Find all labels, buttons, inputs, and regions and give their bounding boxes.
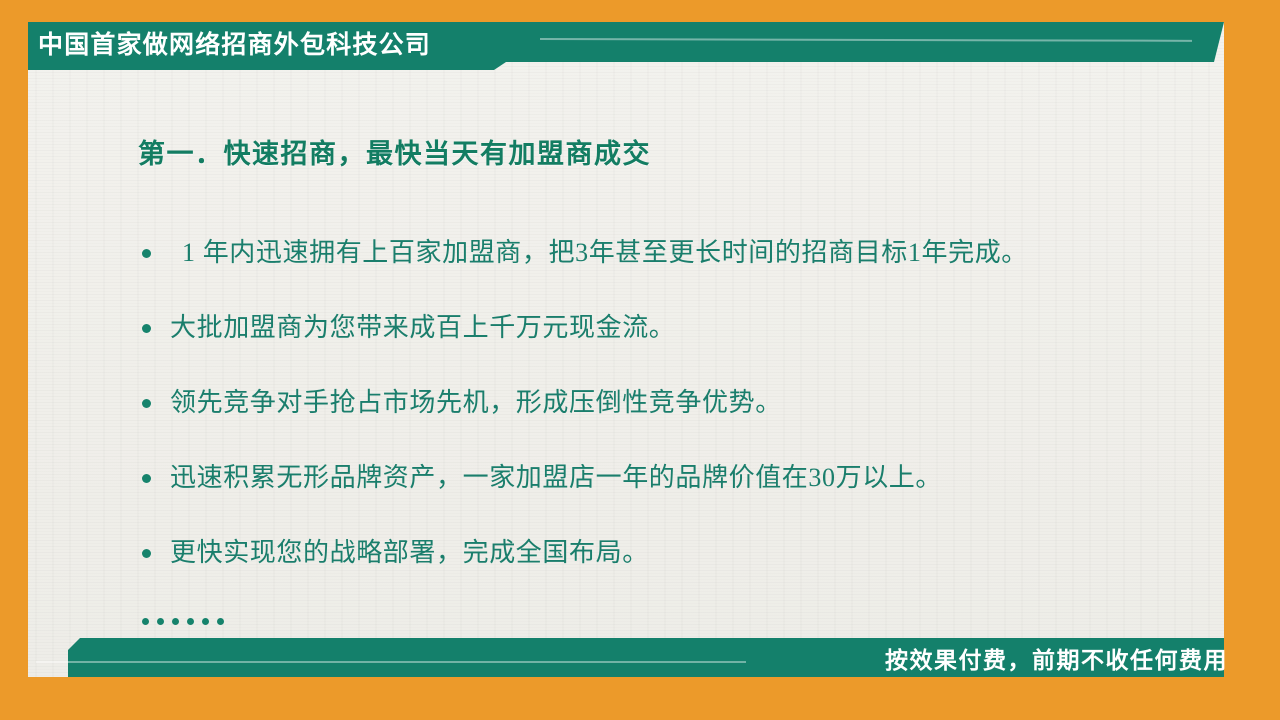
ellipsis-dot-icon [142,618,149,625]
list-item: 迅速积累无形品牌资产，一家加盟店一年的品牌价值在30万以上。 [142,461,1202,536]
bullet-dot-icon [142,324,151,333]
continuation-ellipsis [142,618,224,625]
bullet-dot-icon [142,474,151,483]
ellipsis-dot-icon [157,618,164,625]
slide-heading: 第一．快速招商，最快当天有加盟商成交 [138,132,651,171]
bullet-dot-icon [142,249,151,258]
list-item: 1 年内迅速拥有上百家加盟商，把3年甚至更长时间的招商目标1年完成。 [142,236,1202,311]
ellipsis-dot-icon [172,618,179,625]
ellipsis-dot-icon [187,618,194,625]
list-item: 领先竞争对手抢占市场先机，形成压倒性竞争优势。 [142,386,1202,461]
bullet-dot-icon [142,549,151,558]
ellipsis-dot-icon [202,618,209,625]
bullet-list: 1 年内迅速拥有上百家加盟商，把3年甚至更长时间的招商目标1年完成。 大批加盟商… [142,236,1202,611]
header-company-title: 中国首家做网络招商外包科技公司 [38,29,431,61]
list-item: 大批加盟商为您带来成百上千万元现金流。 [142,311,1202,386]
list-item-label: 更快实现您的战略部署，完成全国布局。 [170,536,1202,570]
footer-tagline: 按效果付费，前期不收任何费用 [885,646,1228,674]
bullet-dot-icon [142,399,151,408]
slide-canvas: 中国首家做网络招商外包科技公司 第一．快速招商，最快当天有加盟商成交 1 年内迅… [0,0,1280,720]
ellipsis-dot-icon [217,618,224,625]
list-item-label: 迅速积累无形品牌资产，一家加盟店一年的品牌价值在30万以上。 [170,461,1202,495]
list-item-label: 领先竞争对手抢占市场先机，形成压倒性竞争优势。 [170,386,1202,420]
list-item: 更快实现您的战略部署，完成全国布局。 [142,536,1202,611]
list-item-label: 1 年内迅速拥有上百家加盟商，把3年甚至更长时间的招商目标1年完成。 [170,236,1202,270]
list-item-label: 大批加盟商为您带来成百上千万元现金流。 [170,311,1202,345]
footer-divider-line [36,661,746,663]
